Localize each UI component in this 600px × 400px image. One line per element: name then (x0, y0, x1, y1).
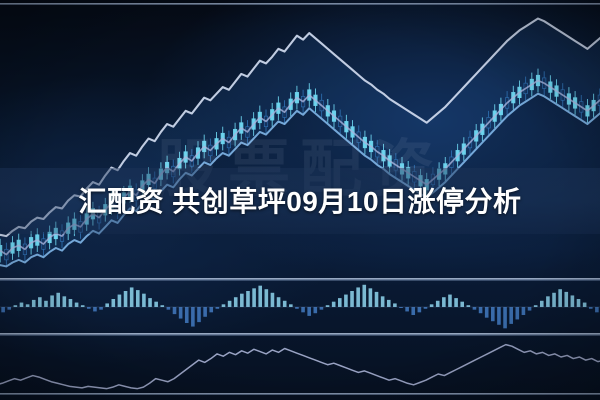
headline-text: 汇配资 共创草坪09月10日涨停分析 (0, 180, 600, 220)
separator-volume-top (0, 278, 600, 281)
chart-banner-image: 股票配资 汇配资 共创草坪09月10日涨停分析 (0, 0, 600, 400)
separator-bottom (0, 393, 600, 395)
separator-volume-bottom (0, 333, 600, 336)
separator-top (0, 3, 600, 5)
